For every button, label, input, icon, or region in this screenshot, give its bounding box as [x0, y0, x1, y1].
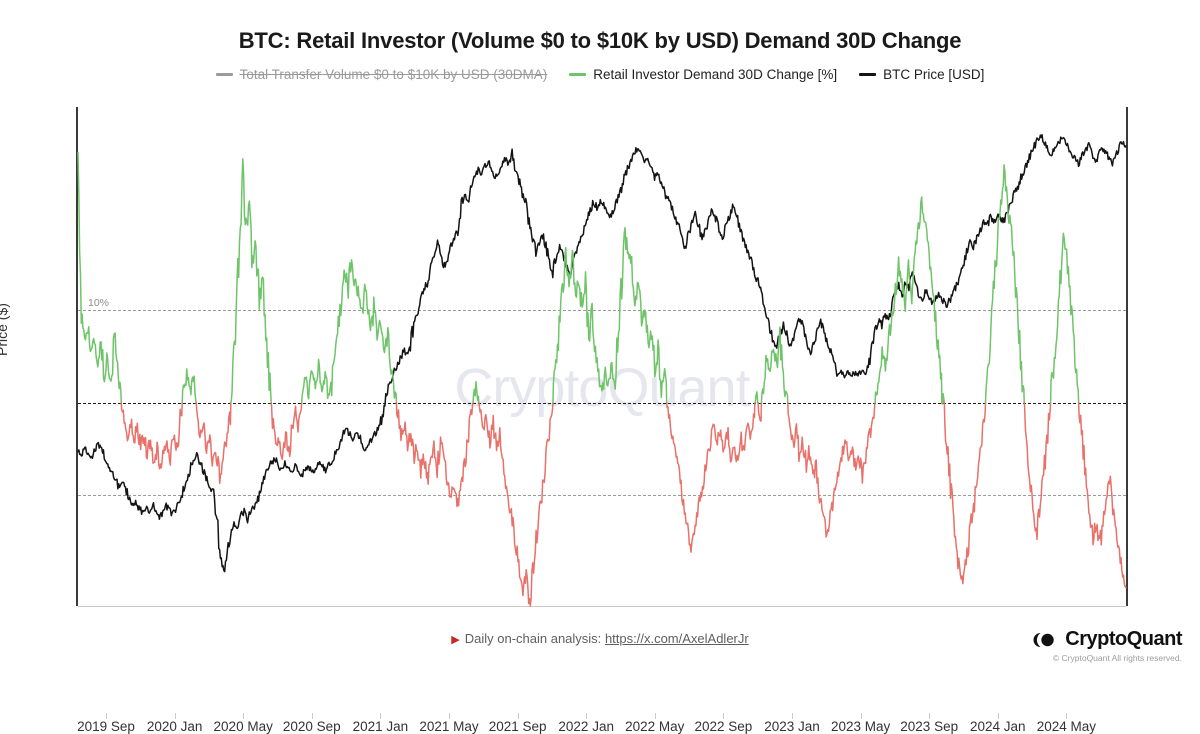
demand-segment-negative [396, 403, 473, 507]
brand-copyright: © CryptoQuant All rights reserved. [1031, 653, 1182, 663]
x-axis-tick-label: 2020 Sep [283, 719, 341, 734]
series-canvas [78, 107, 1126, 606]
page-title: BTC: Retail Investor (Volume $0 to $10K … [0, 28, 1200, 54]
series-btc-price [78, 135, 1126, 572]
x-axis-tick-label: 2023 Jan [764, 719, 820, 734]
demand-segment-negative [1024, 403, 1050, 540]
demand-segment-negative [788, 403, 875, 537]
x-axis-tick-label: 2022 May [625, 719, 684, 734]
demand-segment-negative [196, 403, 231, 484]
demand-segment-positive [182, 369, 196, 403]
x-axis-tick-label: 2021 Sep [489, 719, 547, 734]
demand-segment-positive [761, 327, 787, 403]
demand-segment-positive [553, 228, 667, 403]
legend-label-btc-price: BTC Price [USD] [883, 68, 984, 82]
footer-prefix: Daily on-chain analysis: [465, 631, 602, 646]
demand-segment-negative [667, 403, 755, 552]
chart-legend: Total Transfer Volume $0 to $10K by USD … [0, 68, 1200, 82]
x-axis-tick-label: 2023 May [831, 719, 890, 734]
legend-item-btc-price[interactable]: BTC Price [USD] [859, 68, 984, 82]
demand-segment-positive [473, 382, 479, 403]
footer-note: ▶Daily on-chain analysis: https://x.com/… [0, 631, 1200, 646]
demand-segment-positive [302, 260, 397, 403]
demand-segment-negative [271, 403, 301, 459]
x-axis-tick-label: 2024 May [1037, 719, 1096, 734]
legend-swatch-total-transfer-volume [216, 73, 233, 76]
demand-segment-positive [1051, 233, 1079, 402]
demand-segment-negative [121, 403, 182, 469]
x-axis-tick-label: 2024 Jan [970, 719, 1026, 734]
legend-item-total-transfer-volume[interactable]: Total Transfer Volume $0 to $10K by USD … [216, 68, 548, 82]
demand-segment-negative [944, 403, 985, 584]
chart-root: BTC: Retail Investor (Volume $0 to $10K … [0, 0, 1200, 672]
x-axis-tick-label: 2023 Sep [900, 719, 958, 734]
demand-segment-negative [758, 403, 761, 421]
x-axis-tick-label: 2022 Sep [694, 719, 752, 734]
demand-segment-positive [943, 394, 945, 403]
x-axis-tick-label: 2021 Jan [353, 719, 409, 734]
legend-label-retail-demand: Retail Investor Demand 30D Change [%] [593, 68, 837, 82]
brand-name: CryptoQuant [1065, 628, 1182, 651]
x-axis-tick-label: 2020 May [214, 719, 273, 734]
play-triangle-icon: ▶ [451, 634, 459, 646]
y-axis-right-spine [1126, 107, 1128, 606]
demand-segment-positive [986, 165, 1025, 403]
x-axis-tick-label: 2019 Sep [77, 719, 135, 734]
y-axis-label-price: Price ($) [0, 303, 10, 356]
legend-swatch-retail-demand [569, 73, 586, 76]
legend-label-total-transfer-volume: Total Transfer Volume $0 to $10K by USD … [240, 68, 548, 82]
series-retail-demand [78, 153, 1126, 606]
cryptoquant-logo-icon [1031, 630, 1057, 650]
demand-segment-negative [479, 403, 553, 606]
demand-segment-positive [78, 153, 121, 403]
x-axis-tick-label: 2022 Jan [558, 719, 614, 734]
x-axis-spine [78, 606, 1126, 607]
footer-link[interactable]: https://x.com/AxelAdlerJr [605, 631, 749, 646]
demand-segment-positive [231, 159, 271, 403]
demand-segment-negative [1079, 403, 1126, 588]
brand-block: CryptoQuant © CryptoQuant All rights res… [1031, 628, 1182, 663]
demand-segment-positive [755, 392, 758, 403]
plot-area: CryptoQuant 80K70K60K50K40K30K20K10K9K8K… [78, 107, 1126, 606]
legend-swatch-btc-price [859, 73, 876, 76]
legend-item-retail-demand[interactable]: Retail Investor Demand 30D Change [%] [569, 68, 837, 82]
x-axis-tick-label: 2021 May [419, 719, 478, 734]
x-axis-tick-label: 2020 Jan [147, 719, 203, 734]
